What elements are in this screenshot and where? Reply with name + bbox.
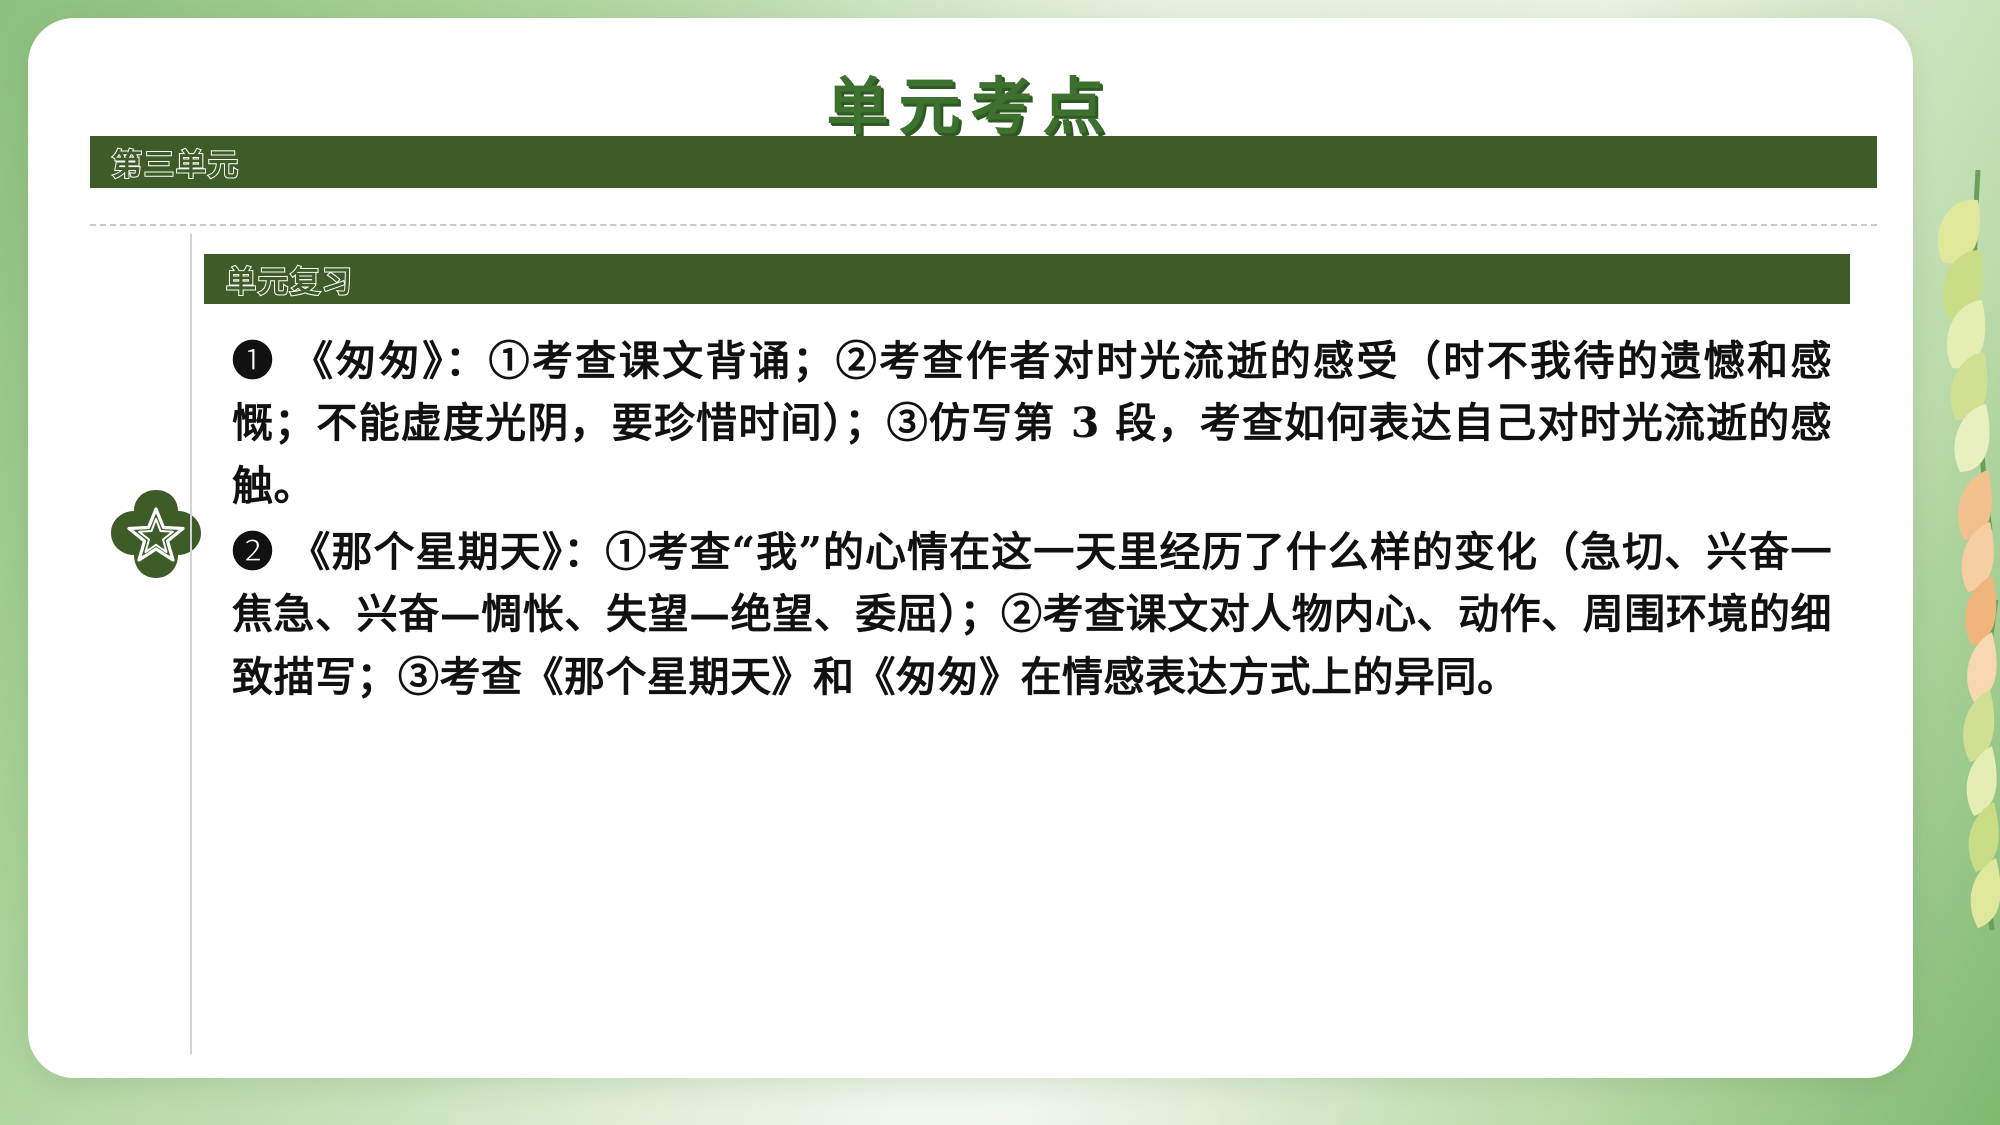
slide-root: 单元考点 第三单元 单元复习 ❶ 《匆匆》：①考查课文背诵；②考查作者对时光流逝…: [0, 0, 2000, 1125]
body-text: ❶ 《匆匆》：①考查课文背诵；②考查作者对时光流逝的感受（时不我待的遗憾和感慨；…: [232, 330, 1832, 708]
section-bar-label: 单元复习: [226, 257, 354, 301]
unit-bar: 第三单元: [90, 136, 1877, 188]
body-paragraph-1: ❶ 《匆匆》：①考查课文背诵；②考查作者对时光流逝的感受（时不我待的遗憾和感慨；…: [232, 330, 1832, 517]
page-title: 单元考点: [28, 56, 1913, 146]
body-paragraph-2: ❷ 《那个星期天》：①考查“我”的心情在这一天里经历了什么样的变化（急切、兴奋一…: [232, 521, 1832, 708]
section-bar: 单元复习: [204, 254, 1850, 304]
content-card: 单元考点 第三单元 单元复习 ❶ 《匆匆》：①考查课文背诵；②考查作者对时光流逝…: [28, 18, 1913, 1078]
unit-bar-label: 第三单元: [112, 140, 240, 184]
dashed-divider: [90, 224, 1877, 226]
content-column: 单元复习 ❶ 《匆匆》：①考查课文背诵；②考查作者对时光流逝的感受（时不我待的遗…: [190, 234, 1880, 1054]
